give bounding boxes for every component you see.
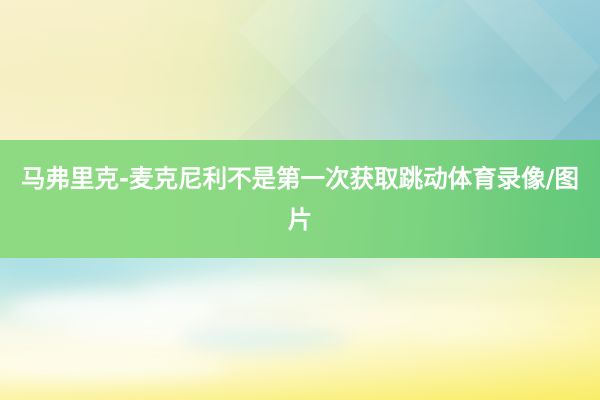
abstract-gradient-header — [0, 0, 600, 141]
hero-image-canvas: 马弗里克-麦克尼利不是第一次获取跳动体育录像/图片 — [0, 0, 600, 400]
header-sheen-overlay — [0, 0, 600, 141]
sky-warm-overlay — [0, 258, 600, 400]
title-banner: 马弗里克-麦克尼利不是第一次获取跳动体育录像/图片 — [0, 140, 600, 258]
banner-title-text: 马弗里克-麦克尼利不是第一次获取跳动体育录像/图片 — [7, 158, 593, 240]
sky-photo-section — [0, 258, 600, 400]
